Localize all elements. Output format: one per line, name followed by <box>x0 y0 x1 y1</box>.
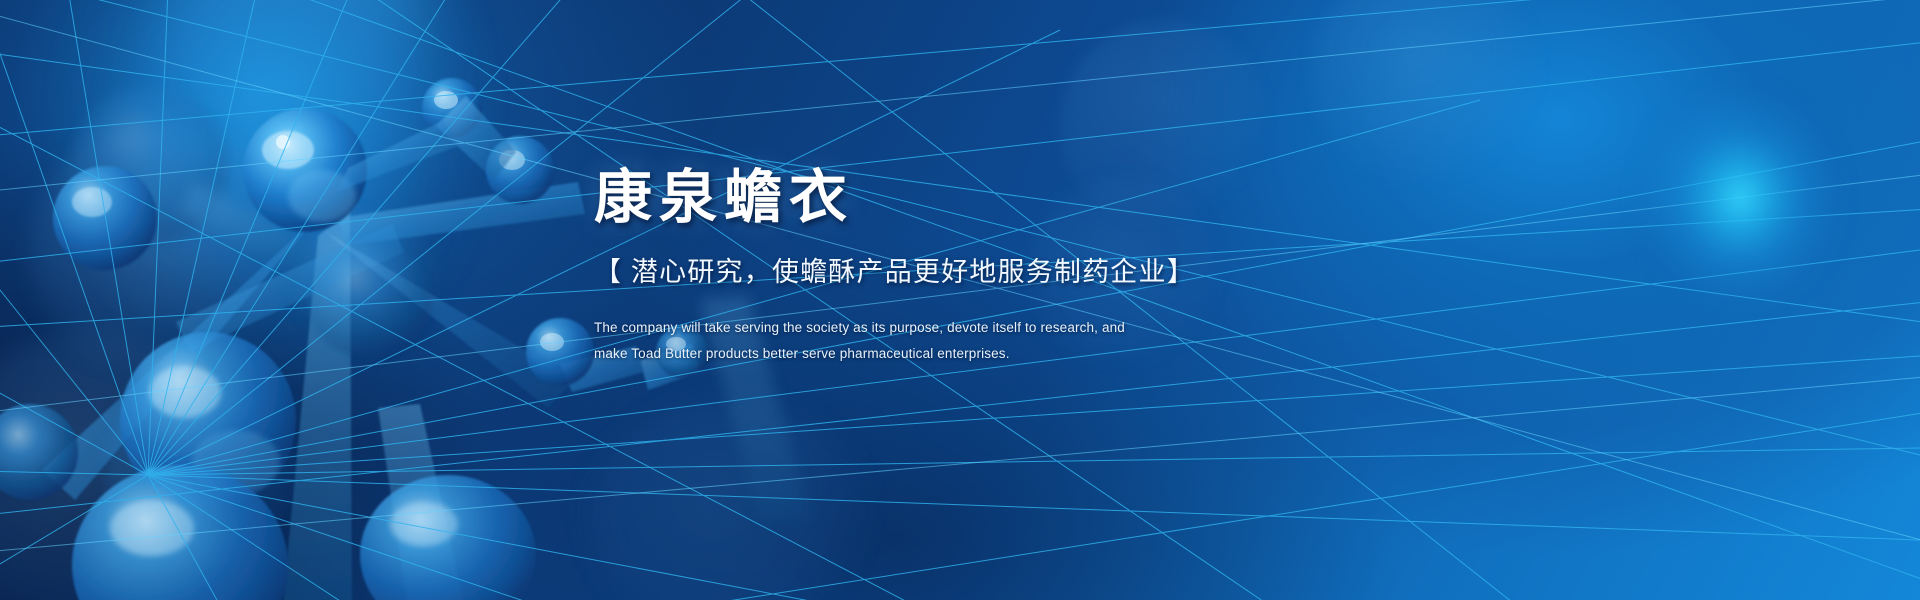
cyan-glow-spot <box>1640 90 1840 305</box>
banner-description-line-1: The company will take serving the societ… <box>594 315 1494 341</box>
hero-banner: 康泉蟾衣 【 潜心研究，使蟾酥产品更好地服务制药企业】 The company … <box>0 0 1920 600</box>
page-title: 康泉蟾衣 <box>594 168 1494 228</box>
banner-subtitle: 【 潜心研究，使蟾酥产品更好地服务制药企业】 <box>594 250 1494 289</box>
banner-description-line-2: make Toad Butter products better serve p… <box>594 341 1494 367</box>
banner-text-block: 康泉蟾衣 【 潜心研究，使蟾酥产品更好地服务制药企业】 The company … <box>594 168 1494 367</box>
banner-description: The company will take serving the societ… <box>594 315 1494 367</box>
